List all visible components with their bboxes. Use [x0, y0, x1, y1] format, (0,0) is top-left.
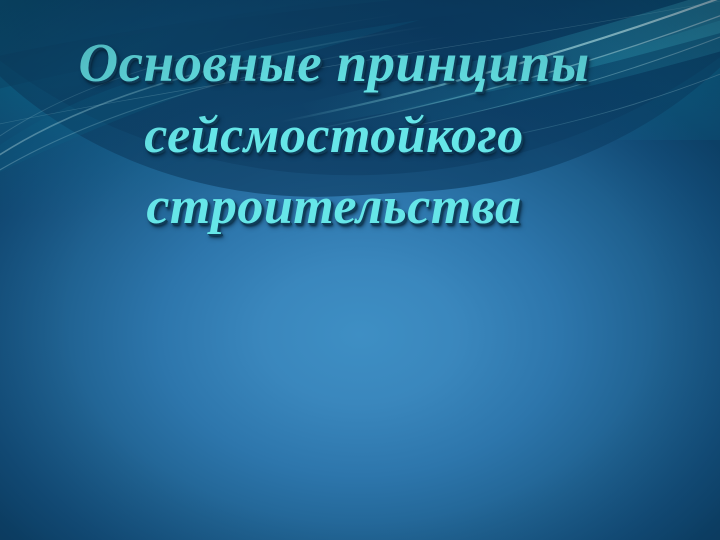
title-line-3: строительства [0, 172, 668, 243]
slide-title: Основные принципы сейсмостойкого строите… [0, 26, 720, 242]
title-line-2: сейсмостойкого [0, 101, 668, 172]
title-slide: Основные принципы сейсмостойкого строите… [0, 0, 720, 540]
title-line-1: Основные принципы [0, 26, 668, 101]
